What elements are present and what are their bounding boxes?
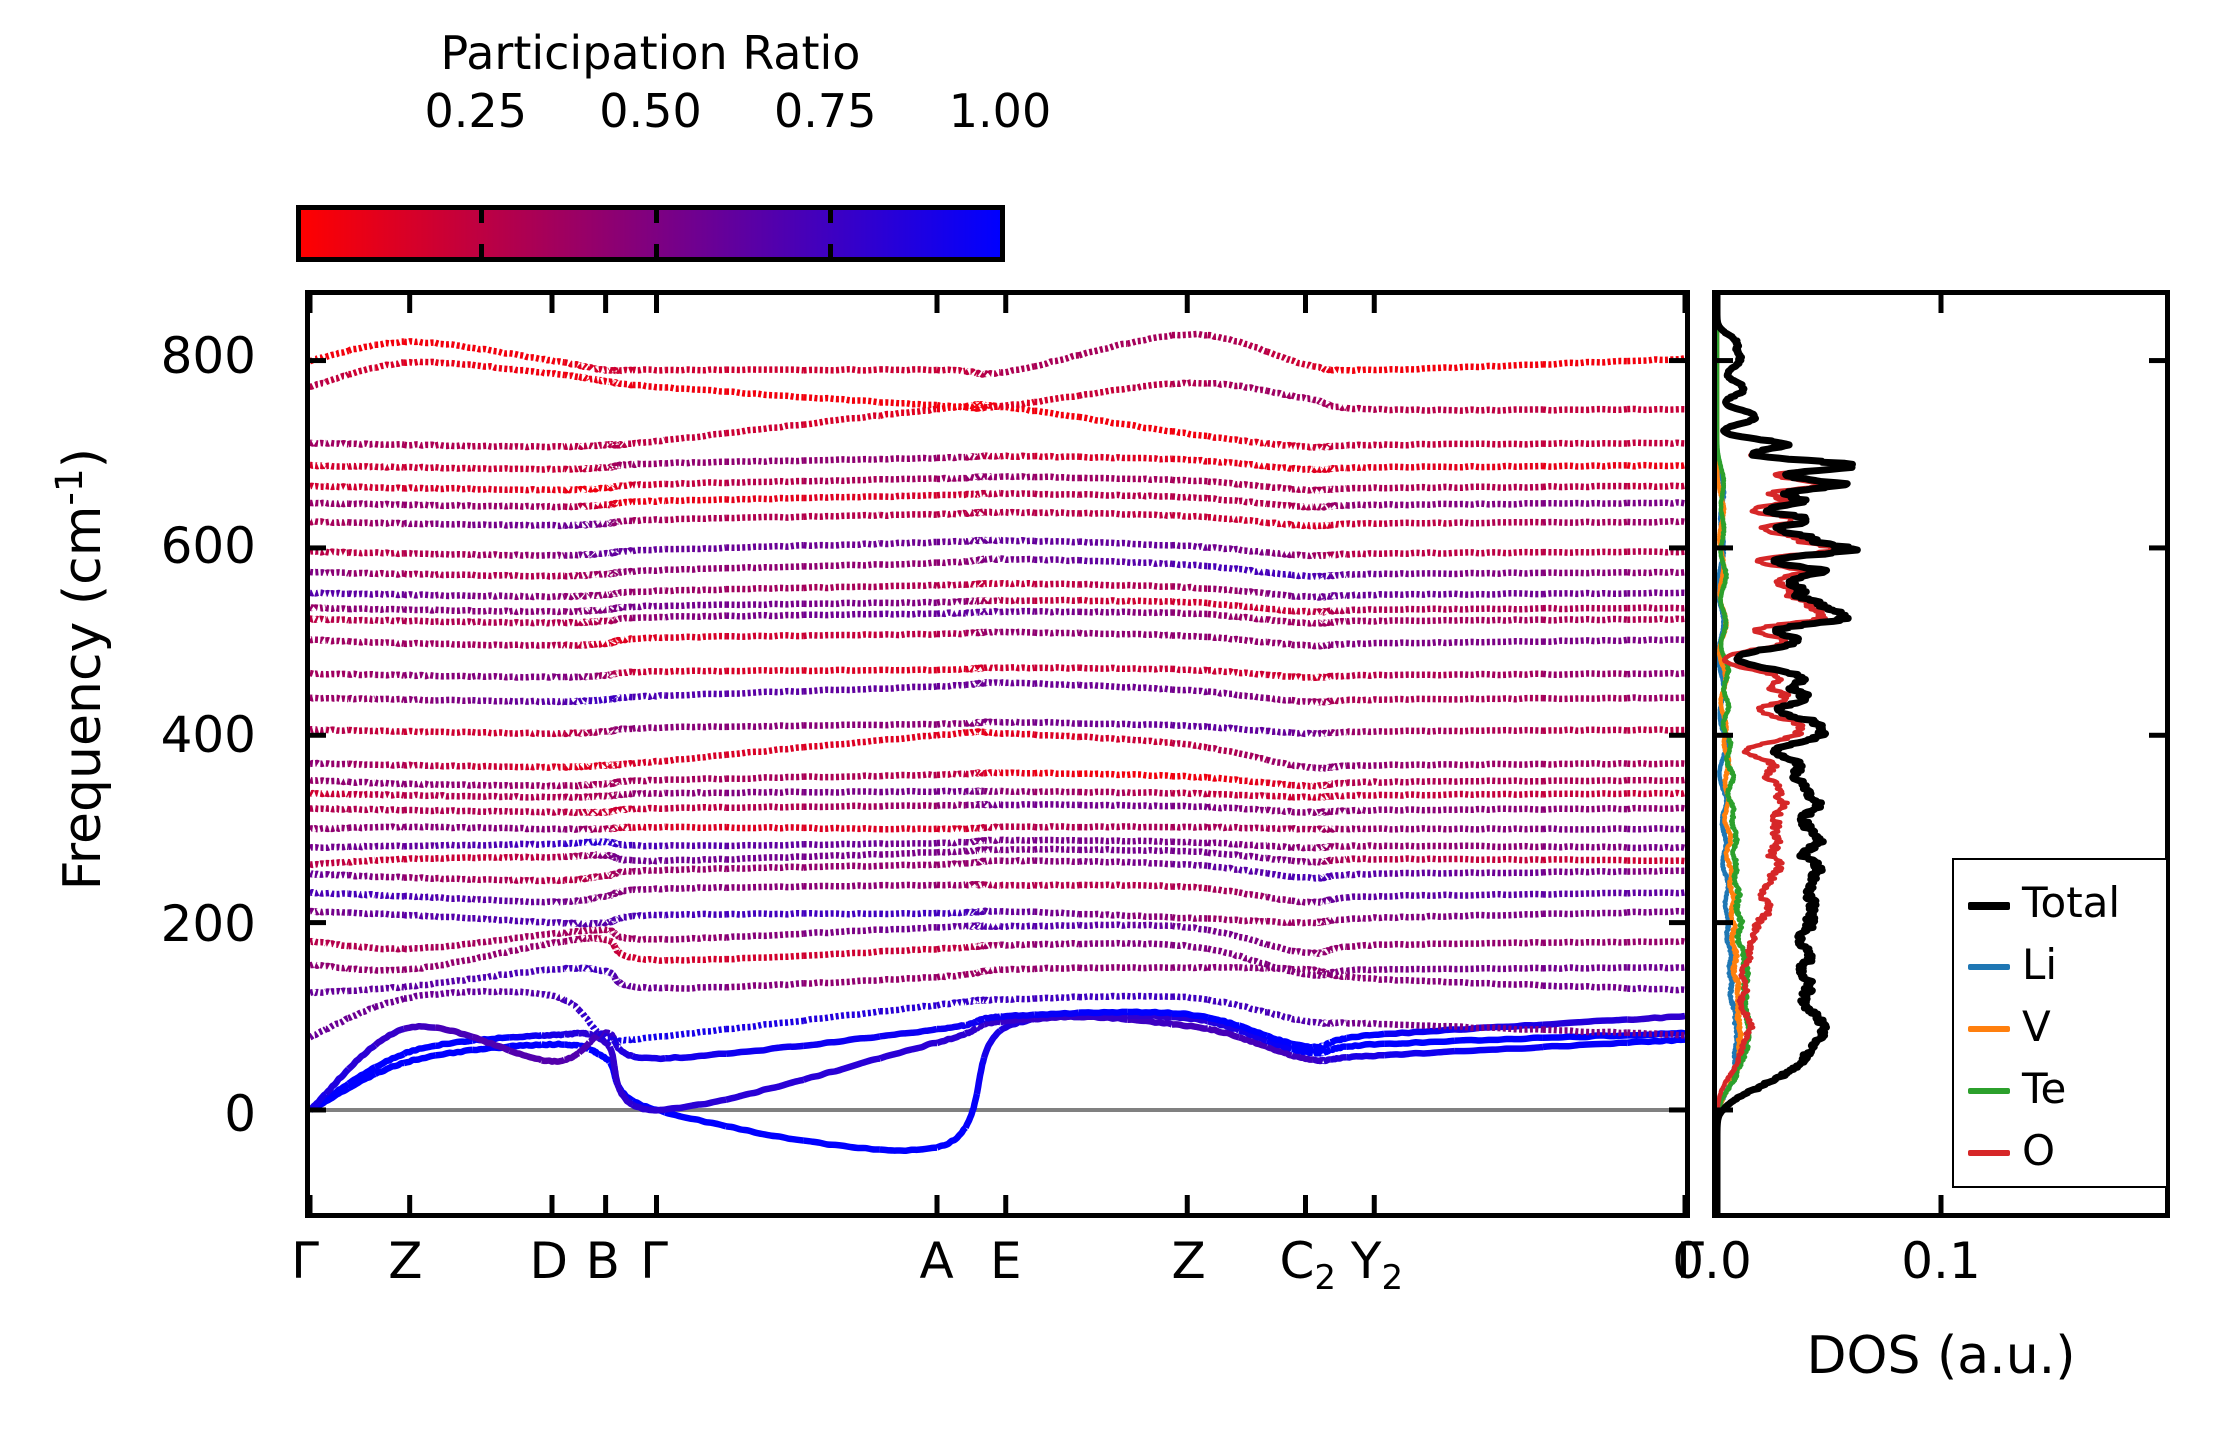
band-segment (984, 861, 1000, 862)
band-segment (665, 914, 726, 915)
band-segment (542, 969, 565, 971)
band-segment (619, 502, 633, 504)
band-segment (880, 977, 937, 980)
band-segment (984, 885, 1000, 886)
band-segment (564, 362, 579, 365)
band-segment (404, 810, 436, 811)
band-segment (1000, 1015, 1034, 1017)
band-segment (1543, 986, 1627, 989)
band-segment (472, 991, 509, 992)
band-segment (1208, 461, 1239, 463)
band-segment (1454, 503, 1542, 504)
band-segment (599, 875, 610, 877)
band-segment (633, 617, 666, 618)
band-segment (472, 785, 509, 786)
band-segment (1384, 594, 1454, 595)
band-segment (610, 608, 615, 609)
band-segment (472, 844, 509, 845)
band-segment (564, 931, 579, 933)
band-segment (1323, 622, 1330, 624)
band-segment (310, 607, 326, 608)
band-segment (1454, 781, 1542, 782)
band-segment (579, 923, 589, 924)
band-segment (404, 877, 436, 878)
band-segment (1543, 465, 1627, 466)
band-segment (579, 644, 589, 645)
band-segment (1239, 501, 1267, 504)
band-segment (1127, 724, 1172, 725)
band-segment (804, 369, 880, 370)
band-segment (1208, 481, 1239, 484)
band-segment (1627, 698, 1685, 699)
band-segment (614, 551, 618, 553)
band-segment (614, 873, 618, 875)
band-segment (1239, 440, 1267, 444)
band-segment (977, 583, 984, 584)
band-segment (880, 913, 937, 914)
band-segment (614, 465, 618, 467)
band-segment (633, 519, 666, 521)
band-segment (510, 622, 542, 623)
band-segment (937, 541, 966, 542)
band-segment (937, 1002, 966, 1006)
band-segment (665, 694, 726, 696)
band-segment (804, 854, 880, 857)
band-segment (579, 468, 589, 469)
band-segment (510, 596, 542, 597)
band-segment (326, 991, 349, 992)
band-segment (1330, 468, 1346, 469)
band-segment (937, 405, 966, 407)
band-segment (1127, 885, 1172, 887)
band-y-tick-label: 400 (161, 706, 256, 764)
phonon-band (310, 826, 1685, 829)
band-segment (966, 601, 977, 602)
band-segment (1347, 408, 1384, 410)
band-segment (472, 879, 509, 881)
band-segment (1079, 774, 1127, 775)
band-segment (1034, 494, 1079, 495)
band-segment (542, 933, 565, 936)
band-segment (966, 584, 977, 585)
band-segment (1313, 829, 1323, 830)
band-segment (1292, 1019, 1313, 1022)
band-segment (977, 476, 984, 477)
band-segment (614, 765, 618, 766)
band-segment (326, 781, 349, 782)
band-segment (1347, 553, 1384, 554)
band-segment (1267, 619, 1292, 622)
band-segment (1454, 764, 1542, 765)
band-segment (1347, 523, 1384, 524)
band-segment (1239, 855, 1267, 858)
band-segment (589, 812, 599, 813)
band-segment (1347, 609, 1384, 610)
band-segment (1000, 583, 1034, 584)
band-segment (1127, 424, 1172, 431)
band-segment (619, 809, 633, 811)
band-segment (510, 701, 542, 702)
band-segment (404, 915, 436, 917)
band-segment (614, 918, 618, 920)
band-segment (435, 700, 472, 701)
band-segment (589, 700, 599, 701)
band-segment (348, 1007, 375, 1018)
band-segment (1000, 733, 1034, 734)
band-segment (1208, 691, 1239, 695)
band-segment (310, 763, 326, 764)
band-segment (310, 551, 326, 552)
band-segment (510, 506, 542, 507)
band-segment (1127, 495, 1172, 496)
band-segment (1323, 876, 1330, 878)
band-segment (633, 1036, 666, 1039)
band-segment (1208, 614, 1239, 617)
band-segment (472, 621, 509, 623)
band-segment (665, 726, 726, 727)
band-segment (1313, 797, 1323, 798)
band-segment (1208, 778, 1239, 781)
band-segment (310, 382, 326, 387)
band-segment (880, 724, 937, 725)
band-segment (542, 922, 565, 924)
band-segment (665, 868, 726, 870)
band-segment (726, 807, 804, 808)
band-segment (1079, 885, 1127, 886)
band-segment (542, 506, 565, 507)
band-segment (977, 632, 984, 633)
band-segment (1239, 591, 1267, 594)
band-segment (937, 601, 966, 602)
band-segment (937, 584, 966, 585)
band-segment (435, 621, 472, 622)
band-segment (1172, 690, 1208, 692)
band-y-tick-label: 0 (224, 1085, 256, 1143)
band-segment (310, 847, 326, 848)
band-segment (619, 592, 633, 594)
band-segment (510, 733, 542, 734)
band-segment (404, 827, 436, 828)
band-segment (435, 979, 472, 983)
band-segment (1543, 780, 1627, 781)
band-segment (404, 765, 436, 766)
band-segment (404, 845, 436, 846)
band-segment (1079, 612, 1127, 613)
band-segment (1543, 793, 1627, 794)
band-segment (542, 576, 565, 577)
band-segment (665, 792, 726, 793)
band-segment (1208, 748, 1239, 754)
band-segment (726, 725, 804, 726)
band-y-tick-label: 600 (161, 517, 256, 575)
band-segment (510, 446, 542, 447)
band-segment (1384, 409, 1454, 410)
band-segment (977, 840, 984, 841)
legend-item[interactable]: Total (1954, 874, 2166, 934)
band-segment (619, 1039, 633, 1042)
band-segment (1384, 699, 1454, 700)
band-segment (1208, 498, 1239, 501)
band-segment (1347, 1023, 1384, 1024)
band-segment (472, 827, 509, 828)
band-segment (937, 733, 966, 736)
band-segment (610, 674, 615, 675)
legend-item[interactable]: Li (1954, 936, 2166, 996)
band-segment (633, 695, 666, 697)
band-segment (1543, 846, 1627, 847)
band-segment (614, 857, 618, 859)
band-segment (435, 610, 472, 612)
band-x-tick-label: D (529, 1232, 568, 1290)
band-segment (564, 525, 579, 526)
band-segment (1172, 480, 1208, 482)
band-segment (1292, 645, 1313, 646)
band-segment (1313, 785, 1323, 786)
band-segment (348, 522, 375, 523)
band-segment (375, 504, 404, 505)
band-segment (375, 642, 404, 644)
band-segment (619, 982, 633, 986)
band-segment (665, 589, 726, 591)
band-segment (665, 369, 726, 370)
band-segment (1127, 585, 1172, 587)
band-segment (804, 479, 880, 481)
band-segment (1454, 894, 1542, 896)
band-segment (1323, 1059, 1330, 1060)
band-segment (1347, 782, 1384, 783)
band-segment (599, 504, 610, 505)
band-segment (1267, 487, 1292, 490)
band-segment (1079, 584, 1127, 586)
band-segment (1627, 808, 1685, 809)
band-segment (326, 640, 349, 641)
band-segment (984, 849, 1000, 850)
band-segment (1384, 444, 1454, 445)
band-segment (937, 1025, 966, 1029)
band-segment (542, 611, 565, 612)
band-segment (326, 828, 349, 829)
band-segment (1543, 730, 1627, 731)
band-segment (1347, 969, 1384, 971)
band-segment (937, 723, 966, 724)
band-segment (404, 699, 436, 700)
band-segment (599, 675, 610, 676)
band-segment (564, 1033, 579, 1035)
band-segment (510, 525, 542, 526)
band-segment (564, 1045, 579, 1047)
band-segment (966, 841, 977, 843)
band-segment (1208, 807, 1239, 809)
band-segment (599, 922, 610, 924)
band-segment (1267, 921, 1292, 923)
band-segment (310, 593, 326, 594)
band-segment (1330, 783, 1346, 785)
band-segment (726, 1080, 804, 1100)
band-segment (348, 368, 375, 374)
band-segment (665, 937, 726, 939)
band-segment (614, 572, 618, 573)
band-segment (1384, 858, 1454, 859)
band-segment (589, 488, 599, 489)
band-segment (589, 610, 599, 611)
band-segment (375, 675, 404, 676)
band-segment (375, 765, 404, 766)
band-segment (1627, 443, 1685, 444)
band-segment (1172, 613, 1208, 614)
band-segment (937, 633, 966, 634)
band-segment (1172, 497, 1208, 499)
band-segment (1239, 956, 1267, 965)
band-segment (1323, 468, 1330, 469)
band-segment (1330, 846, 1346, 847)
band-segment (1323, 403, 1330, 406)
band-segment (404, 341, 436, 343)
band-segment (1313, 861, 1323, 862)
band-segment (804, 980, 880, 983)
band-segment (880, 542, 937, 544)
band-segment (1384, 573, 1454, 574)
band-segment (589, 621, 599, 622)
band-segment (977, 600, 984, 601)
band-segment (1267, 552, 1292, 555)
band-segment (326, 522, 349, 523)
band-segment (1127, 634, 1172, 636)
band-segment (579, 812, 589, 813)
band-segment (579, 524, 589, 525)
band-segment (1127, 335, 1172, 344)
band-segment (375, 573, 404, 574)
band-segment (435, 524, 472, 525)
legend-item[interactable]: Te (1954, 1060, 2166, 1120)
band-segment (610, 941, 615, 946)
band-segment (1000, 998, 1034, 999)
band-segment (633, 1056, 666, 1059)
band-segment (1079, 494, 1127, 496)
band-segment (564, 375, 579, 377)
band-segment (1330, 610, 1346, 611)
band-segment (1267, 760, 1292, 765)
band-segment (984, 493, 1000, 494)
band-segment (1034, 541, 1079, 542)
band-segment (510, 353, 542, 359)
band-segment (665, 778, 726, 779)
band-segment (726, 777, 804, 779)
band-segment (1313, 576, 1323, 577)
band-segment (435, 554, 472, 555)
band-segment (1079, 478, 1127, 479)
band-segment (310, 639, 326, 640)
band-segment (984, 999, 1000, 1000)
band-segment (589, 938, 599, 939)
band-segment (348, 782, 375, 784)
band-segment (542, 829, 565, 830)
band-segment (966, 850, 977, 851)
band-segment (510, 811, 542, 812)
band-segment (1000, 885, 1034, 886)
band-segment (564, 843, 579, 844)
band-segment (510, 369, 542, 372)
band-segment (1384, 873, 1454, 874)
band-segment (1313, 645, 1323, 646)
band-segment (1313, 447, 1323, 448)
band-segment (977, 668, 984, 669)
band-segment (633, 939, 666, 940)
band-segment (966, 560, 977, 561)
legend-item[interactable]: V (1954, 998, 2166, 1058)
band-segment (1034, 611, 1079, 612)
band-segment (633, 780, 666, 782)
band-segment (1239, 617, 1267, 620)
band-segment (1079, 996, 1127, 997)
band-segment (1313, 366, 1323, 368)
band-segment (326, 847, 349, 848)
band-segment (564, 797, 579, 798)
band-segment (1330, 732, 1346, 733)
band-segment (1000, 722, 1034, 723)
band-segment (348, 946, 375, 948)
band-segment (880, 458, 937, 459)
band-segment (326, 608, 349, 609)
band-segment (375, 342, 404, 345)
legend-item[interactable]: O (1954, 1122, 2166, 1182)
band-segment (1347, 873, 1384, 875)
band-segment (1454, 730, 1542, 731)
band-segment (804, 1036, 880, 1045)
band-segment (1034, 791, 1079, 792)
band-segment (435, 845, 472, 846)
band-segment (326, 674, 349, 675)
band-segment (633, 870, 666, 872)
band-segment (726, 792, 804, 793)
band-segment (326, 893, 349, 894)
band-segment (542, 843, 565, 844)
phonon-band (310, 860, 1685, 881)
band-segment (472, 644, 509, 645)
band-segment (404, 444, 436, 445)
band-segment (1347, 699, 1384, 700)
band-segment (375, 794, 404, 795)
band-segment (984, 732, 1000, 733)
band-segment (348, 345, 375, 351)
band-y-tick-label: 800 (161, 327, 256, 385)
band-segment (1627, 729, 1685, 730)
band-segment (435, 857, 472, 858)
band-segment (348, 809, 375, 810)
band-segment (610, 828, 615, 829)
band-segment (472, 857, 509, 858)
band-segment (1313, 469, 1323, 470)
band-segment (542, 359, 565, 362)
band-segment (614, 810, 618, 811)
band-segment (1267, 731, 1292, 733)
band-segment (472, 811, 509, 812)
band-segment (804, 843, 880, 845)
band-segment (1384, 1029, 1454, 1033)
band-segment (579, 610, 589, 611)
band-segment (472, 446, 509, 447)
band-segment (1208, 949, 1239, 956)
band-segment (542, 797, 565, 798)
band-segment (1079, 668, 1127, 669)
band-segment (1313, 1052, 1323, 1053)
band-segment (1543, 1030, 1627, 1033)
band-segment (1627, 911, 1685, 912)
band-segment (599, 1054, 610, 1062)
band-segment (1079, 723, 1127, 724)
band-segment (966, 1000, 977, 1002)
band-segment (510, 828, 542, 829)
band-segment (614, 977, 618, 982)
